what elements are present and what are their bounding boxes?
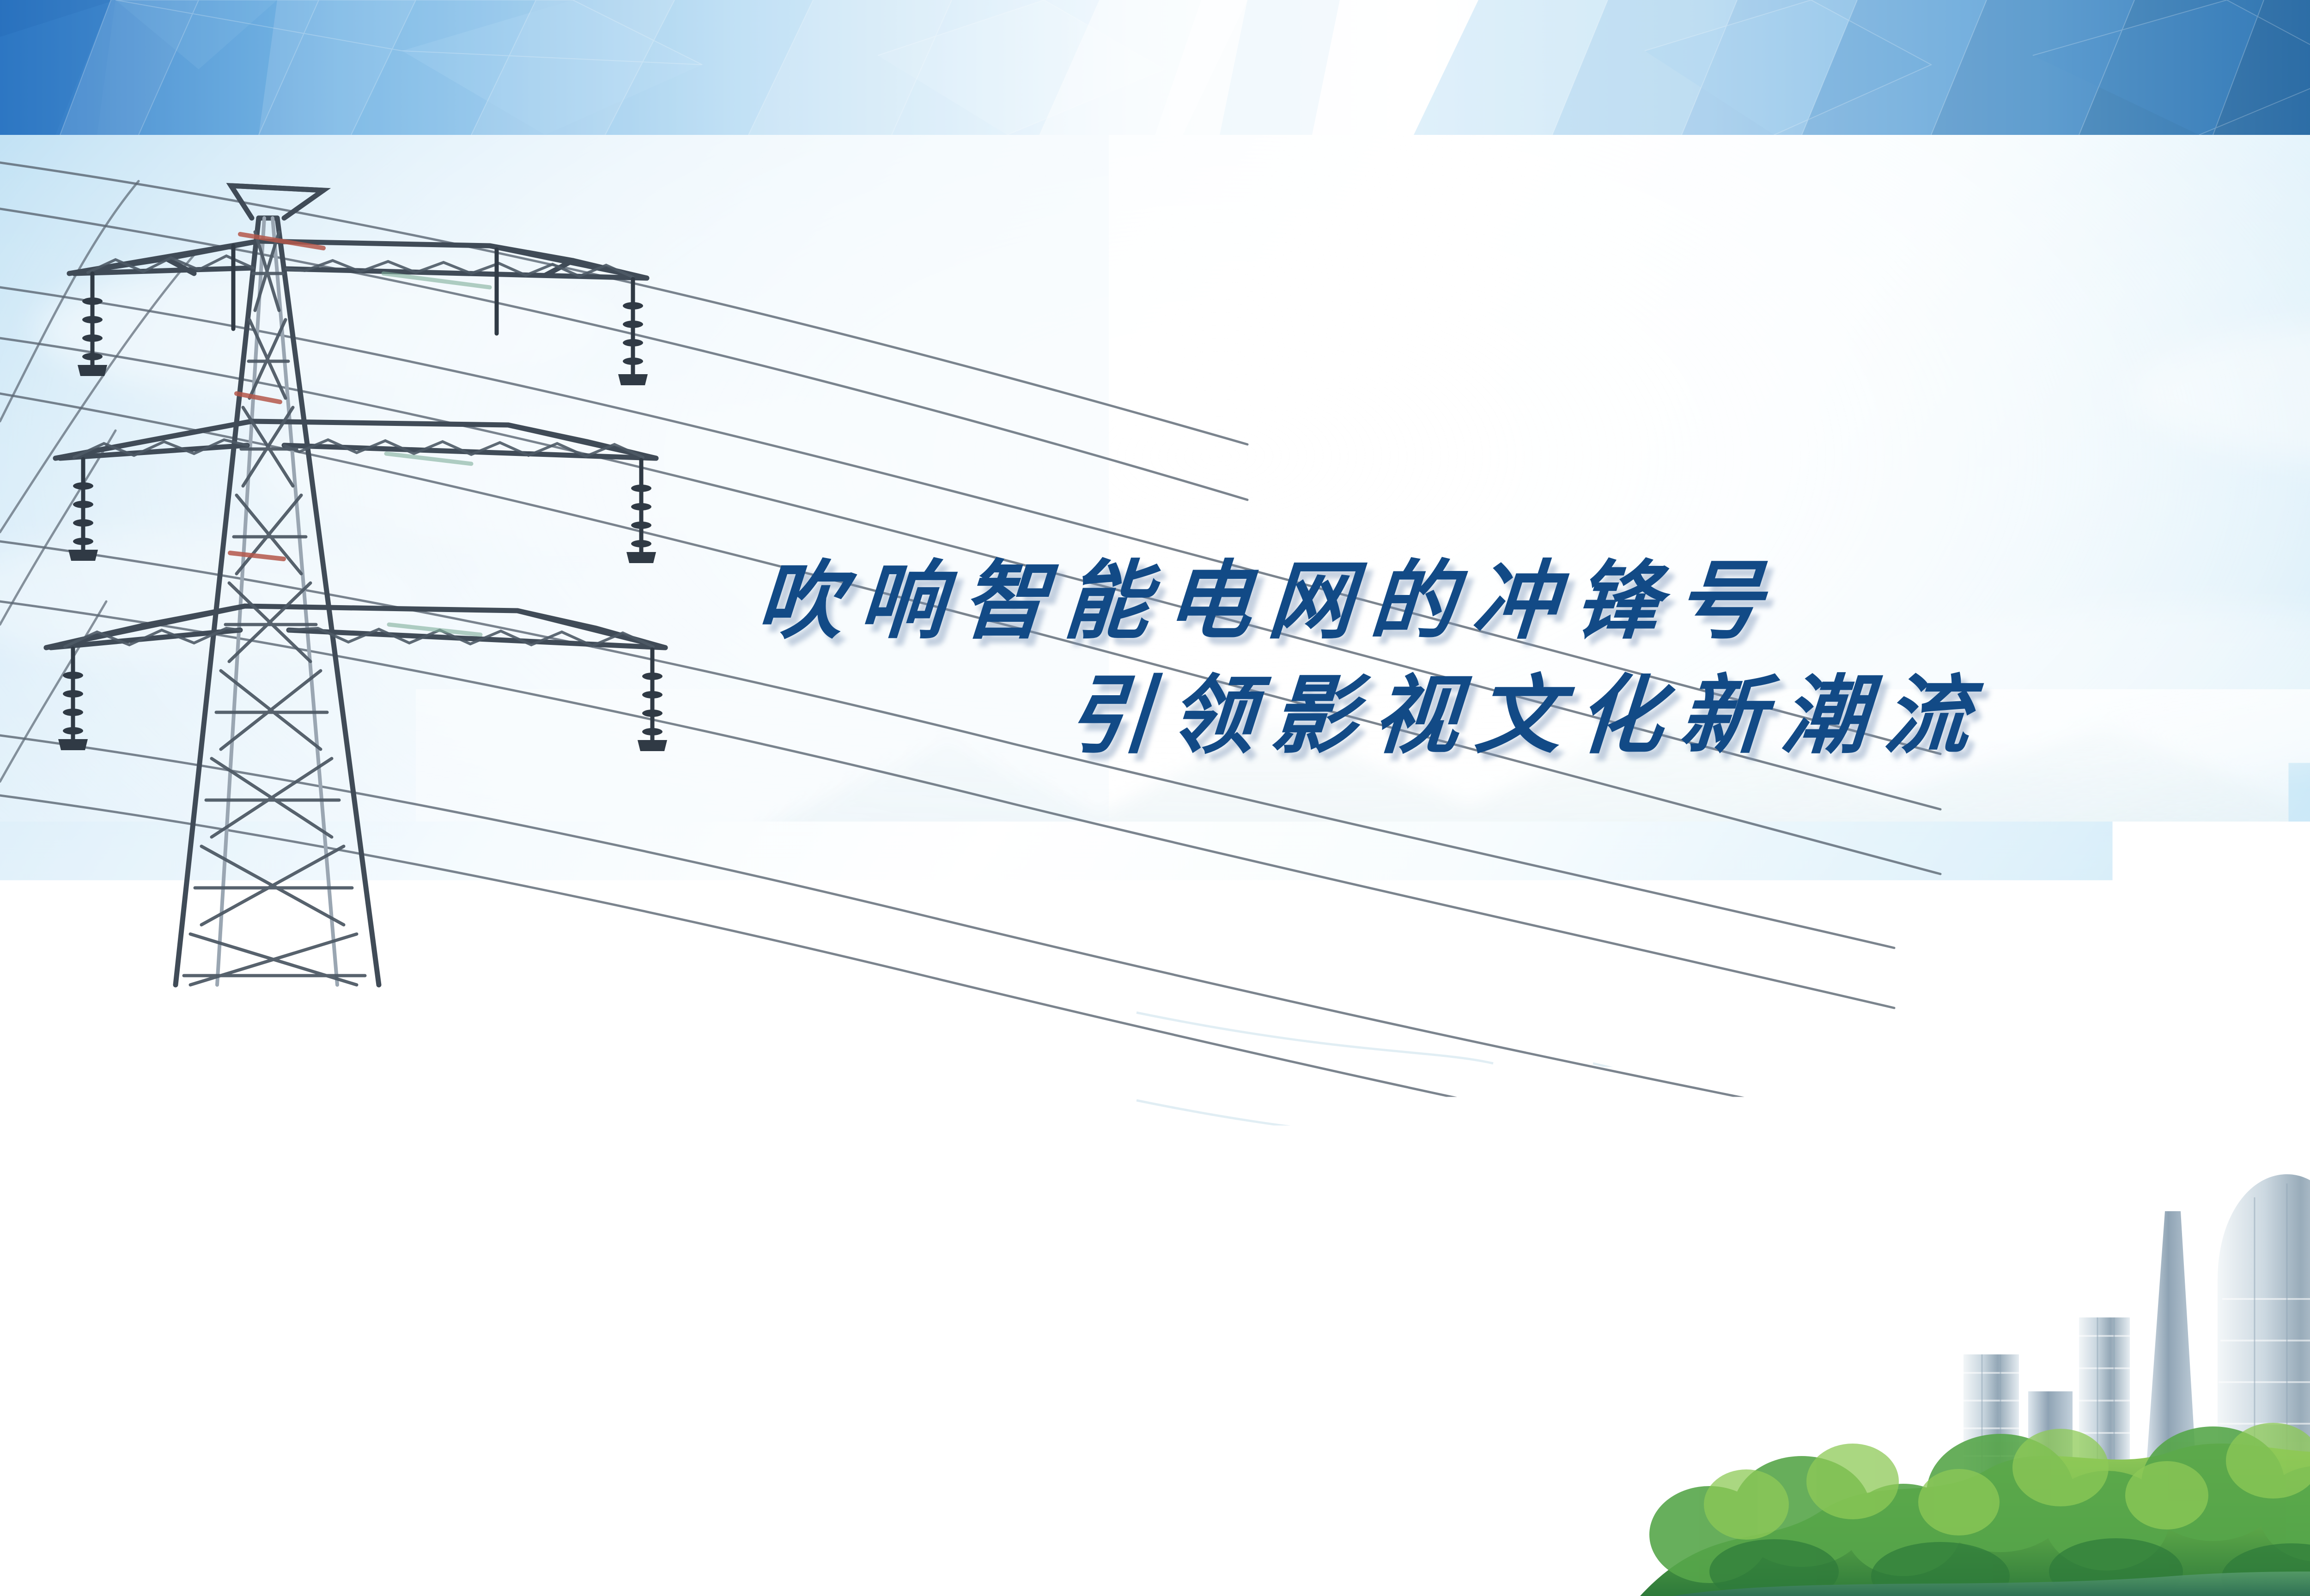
- wave-ribbon-graphic: [0, 0, 2310, 1596]
- poster-canvas: 吹响智能电网的冲锋号 引领影视文化新潮流: [0, 0, 2310, 1596]
- waves-svg: [0, 0, 2310, 1596]
- wave-right-system: [1525, 1293, 2310, 1596]
